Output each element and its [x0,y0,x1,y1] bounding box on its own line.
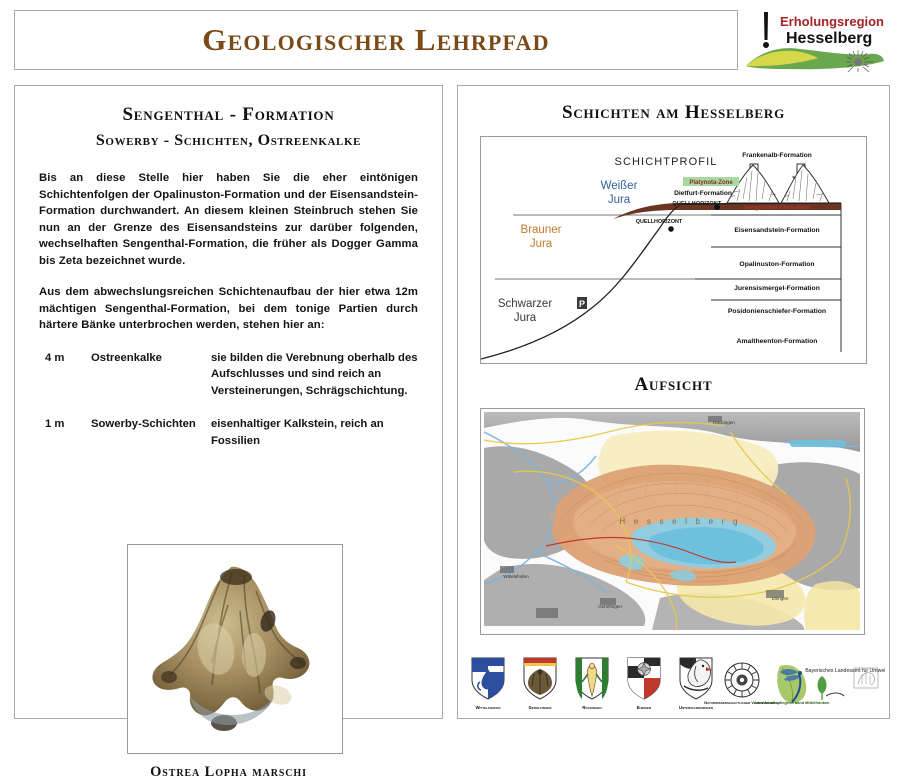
sponsor-label: Wittelshofen [476,705,501,710]
left-panel-title: Sengenthal - Formation [15,104,442,126]
brauner-jura-label-line2: Jura [530,238,553,250]
map-place-label: Wittelshofen [503,574,529,579]
sponsor-label: Ehingen [637,705,651,710]
layer-thickness: 1 m [45,416,91,449]
fossil-photo-frame [127,544,343,754]
fossil-caption: Ostrea Lopha marschi [15,764,442,781]
weisser-jura-label-line2: Jura [608,194,631,206]
formation-label-amaltheenton: Amaltheenton-Formation [737,338,818,345]
dietfurt-formation-label: Dietfurt-Formation [674,190,732,197]
logo-line1: Erholungsregion [780,14,884,29]
sponsor-label: Landschaftspflegeverband Mittelfranken [755,700,830,705]
sponsor-label: Röckingen [582,705,601,710]
info-board: Geologischer Lehrpfad Erholungsregion He… [0,0,897,730]
quellhorizont-lower-label: QUELLHORIZONT [636,219,683,225]
parking-marker-label: P [579,299,585,309]
schwarzer-jura-label-line2: Jura [514,312,537,324]
formation-label-posidonienschiefer: Posidonienschiefer-Formation [728,308,826,315]
layer-list: 4 m Ostreenkalke sie bilden die Verebnun… [45,350,418,450]
weisser-jura-label-line1: Weißer [601,180,638,192]
layer-row: 4 m Ostreenkalke sie bilden die Verebnun… [45,350,418,400]
sponsor-label: Bayerisches Landesamt für Umwelt [805,668,885,674]
formation-label-eisensandstein: Eisensandstein-Formation [734,227,819,234]
schichtprofil-heading: SCHICHTPROFIL [615,156,718,168]
board-header: Geologischer Lehrpfad [14,10,738,70]
schwarzer-jura-label-line1: Schwarzer [498,298,552,310]
hesselberg-geological-map: H e s s e l b e r g Röckingen Wittelshof… [484,412,860,630]
layer-name: Sowerby-Schichten [91,416,211,449]
aufsicht-title: Aufsicht [458,374,889,396]
frankenalb-formation-label: Frankenalb-Formation [742,152,812,159]
formation-label-jurensismergel: Jurensismergel-Formation [734,285,820,292]
left-panel-subtitle: Sowerby - Schichten, Ostreenkalke [15,132,442,150]
aufsicht-map-frame: H e s s e l b e r g Röckingen Wittelshof… [480,408,865,635]
schichtprofil-diagram: SCHICHTPROFIL Frankenalb-Formation Weiße… [480,136,867,364]
layer-description: eisenhaltiger Kalkstein, reich an Fossil… [211,416,418,449]
left-panel-body: Bis an diese Stelle hier haben Sie die e… [39,170,418,334]
right-panel: Schichten am Hesselberg SCHICHTPROFIL Fr… [457,85,890,719]
platynota-zone-label: Platynota-Zone [689,180,733,186]
logo-line2: Hesselberg [786,30,872,47]
erholungsregion-hesselberg-logo: Erholungsregion Hesselberg [742,6,888,72]
sponsor-label: Gerolfingen [529,705,552,710]
brauner-jura-label-line1: Brauner [521,224,562,236]
right-panel-title: Schichten am Hesselberg [458,102,889,124]
quellhorizont-lower-marker [668,226,674,232]
fossil-oyster-photo [128,545,339,750]
layer-name: Ostreenkalke [91,350,211,400]
sponsor-label: Unterschwaningen [679,705,713,710]
paragraph-2: Aus dem abwechslungsreichen Schichtenauf… [39,284,418,334]
paragraph-1: Bis an diese Stelle hier haben Sie die e… [39,170,418,269]
sengenthal-formation-band-label: Sengenthal-Formation [743,204,811,211]
layer-thickness: 4 m [45,350,91,400]
map-mountain-label: H e s s e l b e r g [619,517,740,526]
left-panel: Sengenthal - Formation Sowerby - Schicht… [14,85,443,719]
quellhorizont-upper-marker [714,204,720,210]
formation-label-opalinuston: Opalinuston-Formation [739,261,814,268]
sponsor-logo-row: Wittelshofen Gerolfingen [462,656,885,714]
page-title: Geologischer Lehrpfad [202,22,549,58]
layer-row: 1 m Sowerby-Schichten eisenhaltiger Kalk… [45,416,418,449]
layer-description: sie bilden die Verebnung oberhalb des Au… [211,350,418,400]
